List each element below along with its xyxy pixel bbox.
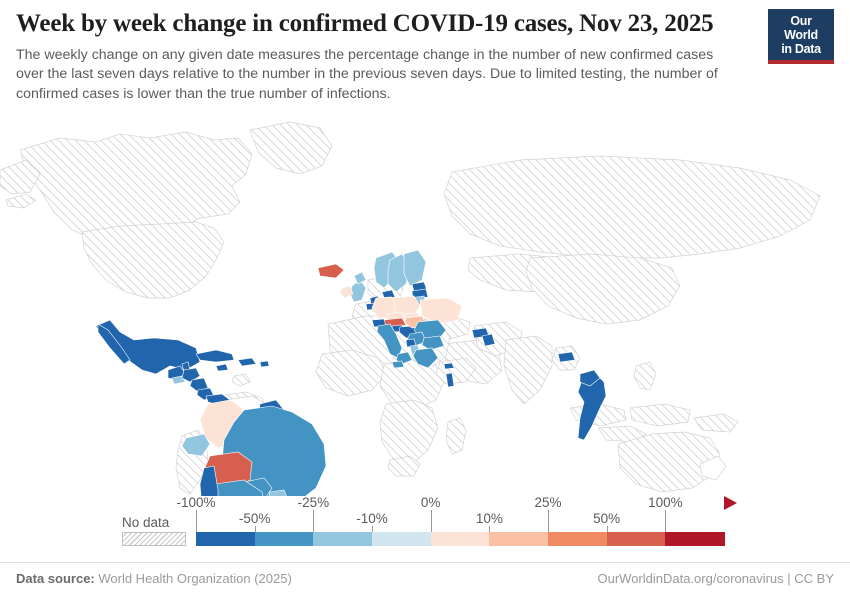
chart-footer: Data source: World Health Organization (… — [0, 562, 850, 601]
data-source-value: World Health Organization (2025) — [95, 571, 292, 586]
legend-tick-label-8: 100% — [648, 495, 683, 510]
country-sicily — [392, 361, 404, 368]
chart-subtitle: The weekly change on any given date meas… — [16, 46, 742, 104]
legend-bin-5[interactable] — [489, 532, 548, 546]
legend-tick-label-2: -25% — [298, 495, 330, 510]
legend-tick-1 — [255, 526, 256, 532]
legend-bin-0[interactable] — [196, 532, 255, 546]
legend-bin-8[interactable] — [665, 532, 724, 546]
legend-bin-4[interactable] — [431, 532, 490, 546]
legend-bin-2[interactable] — [313, 532, 372, 546]
country-iceland — [318, 264, 344, 278]
country-finland — [404, 250, 426, 286]
legend-tick-0 — [196, 510, 197, 532]
legend-tick-2 — [313, 510, 314, 532]
legend-tick-8 — [665, 510, 666, 532]
owid-logo[interactable]: Our World in Data — [768, 9, 834, 64]
data-source: Data source: World Health Organization (… — [16, 571, 292, 586]
legend-tick-label-7: 50% — [593, 511, 620, 526]
attribution-link[interactable]: OurWorldinData.org/coronavirus | CC BY — [597, 571, 834, 586]
legend-tick-label-3: -10% — [356, 511, 388, 526]
country-haiti-dr — [238, 358, 256, 366]
country-cyprus — [444, 363, 454, 369]
country-jamaica — [216, 364, 228, 371]
legend-color-bar[interactable] — [196, 532, 724, 546]
map-legend[interactable]: No data -100%-50%-25%-10%0%10%25%50%100% — [0, 496, 850, 554]
legend-bin-1[interactable] — [255, 532, 314, 546]
legend-tick-label-4: 0% — [421, 495, 441, 510]
page-title: Week by week change in confirmed COVID-1… — [16, 9, 746, 39]
map-svg — [0, 108, 850, 496]
legend-tick-7 — [607, 526, 608, 532]
legend-tick-label-0: -100% — [176, 495, 215, 510]
legend-tick-label-5: 10% — [476, 511, 503, 526]
legend-tick-6 — [548, 510, 549, 532]
legend-bin-3[interactable] — [372, 532, 431, 546]
legend-tick-label-6: 25% — [534, 495, 561, 510]
legend-no-data-label: No data — [122, 515, 169, 530]
legend-tick-label-1: -50% — [239, 511, 271, 526]
legend-tick-5 — [489, 526, 490, 532]
country-cuba — [196, 350, 234, 362]
legend-bin-6[interactable] — [548, 532, 607, 546]
owid-logo-line-1: Our World — [773, 14, 829, 42]
legend-no-data-swatch[interactable] — [122, 532, 186, 546]
world-choropleth-map[interactable] — [0, 108, 850, 496]
data-source-prefix: Data source: — [16, 571, 95, 586]
legend-tick-3 — [372, 526, 373, 532]
country-uk-scotland — [354, 272, 366, 284]
legend-tick-4 — [431, 510, 432, 532]
owid-logo-line-2: in Data — [773, 42, 829, 56]
legend-arrow-cap — [724, 496, 737, 510]
country-puerto-rico — [260, 361, 269, 367]
country-bhutan — [558, 352, 575, 362]
legend-bin-7[interactable] — [607, 532, 666, 546]
